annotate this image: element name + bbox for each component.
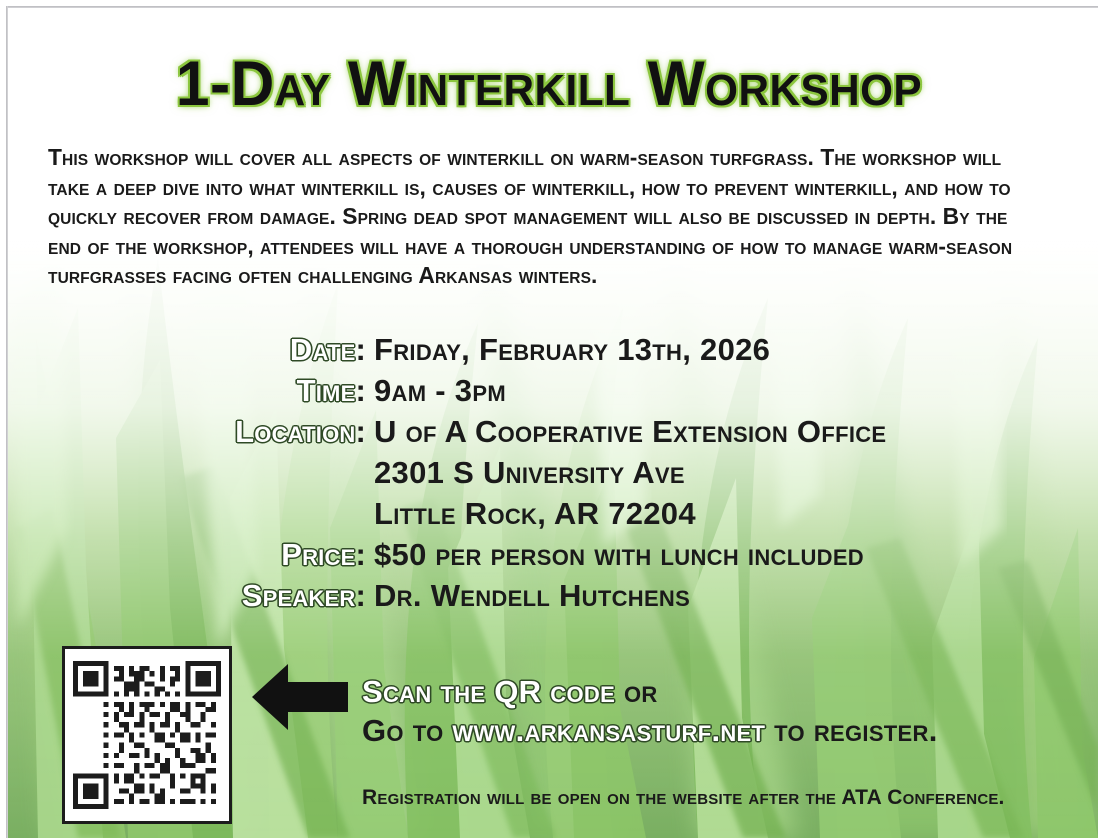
call-to-action: Scan the QR code or Go to www.arkansastu…	[362, 672, 1062, 750]
detail-label-time: Time:	[0, 373, 366, 409]
detail-value-date: Friday, February 13th, 2026	[366, 332, 770, 368]
detail-row-time: Time: 9am - 3pm	[0, 373, 1098, 414]
cta-register-text: to register.	[765, 713, 937, 748]
cta-scan-text: Scan the QR code	[362, 674, 615, 709]
cta-website-link[interactable]: www.arkansasturf.net	[452, 713, 765, 748]
qr-code[interactable]	[62, 646, 232, 824]
cta-line-1: Scan the QR code or	[362, 672, 1062, 711]
registration-footnote: Registration will be open on the website…	[362, 786, 1062, 810]
poster: 1-Day Winterkill Workshop This workshop …	[0, 0, 1098, 838]
detail-value-city: Little Rock, AR 72204	[366, 496, 696, 532]
detail-row-speaker: Speaker: Dr. Wendell Hutchens	[0, 578, 1098, 619]
detail-label-speaker: Speaker:	[0, 578, 366, 614]
page-title: 1-Day Winterkill Workshop	[22, 48, 1076, 120]
detail-label-location: Location:	[0, 414, 366, 450]
intro-paragraph: This workshop will cover all aspects of …	[48, 143, 1030, 291]
detail-row-location: Location: U of A Cooperative Extension O…	[0, 414, 1098, 455]
left-arrow-icon	[250, 662, 350, 732]
detail-row-price: Price: $50 per person with lunch include…	[0, 537, 1098, 578]
cta-or-text: or	[615, 674, 658, 709]
detail-value-street: 2301 S University Ave	[366, 455, 685, 491]
detail-value-price: $50 per person with lunch included	[366, 537, 864, 573]
page-edge-top	[6, 6, 1098, 8]
poster-content: 1-Day Winterkill Workshop This workshop …	[0, 0, 1098, 838]
detail-label-date: Date:	[0, 332, 366, 368]
detail-row-date: Date: Friday, February 13th, 2026	[0, 332, 1098, 373]
page-edge-left	[6, 6, 8, 838]
cta-goto-text: Go to	[362, 713, 452, 748]
detail-value-speaker: Dr. Wendell Hutchens	[366, 578, 690, 614]
detail-row-street: 2301 S University Ave	[0, 455, 1098, 496]
detail-row-city: Little Rock, AR 72204	[0, 496, 1098, 537]
page-edge-pad-top	[0, 0, 1098, 6]
detail-value-location: U of A Cooperative Extension Office	[366, 414, 886, 450]
cta-line-2: Go to www.arkansasturf.net to register.	[362, 711, 1062, 750]
event-details: Date: Friday, February 13th, 2026 Time: …	[0, 332, 1098, 619]
detail-label-price: Price:	[0, 537, 366, 573]
detail-value-time: 9am - 3pm	[366, 373, 506, 409]
page-edge-pad-left	[0, 0, 6, 838]
